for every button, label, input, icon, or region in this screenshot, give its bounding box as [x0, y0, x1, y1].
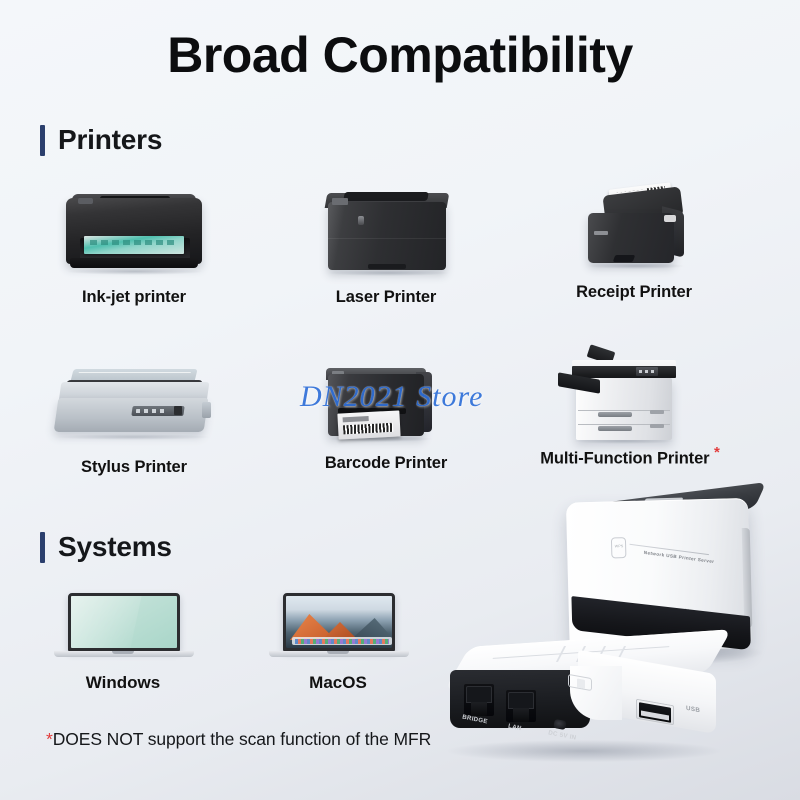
footnote-asterisk: * — [46, 729, 53, 749]
printer-card-inkjet[interactable]: Ink-jet printer — [14, 180, 254, 307]
section-header-label: Printers — [58, 124, 162, 156]
printer-card-receipt[interactable]: Receipt Printer — [514, 175, 754, 302]
system-card-label: Windows — [28, 673, 218, 693]
printer-card-label: Stylus Printer — [14, 458, 254, 477]
section-accent-bar — [40, 125, 45, 156]
printer-label-text: Barcode Printer — [325, 454, 447, 472]
section-accent-bar — [40, 532, 45, 563]
macos-laptop-icon — [243, 585, 433, 673]
printer-card-laser[interactable]: Laser Printer — [266, 180, 506, 307]
system-card-label: MacOS — [243, 673, 433, 693]
printer-card-label: Ink-jet printer — [14, 288, 254, 307]
printer-label-text: Ink-jet printer — [82, 288, 186, 306]
asterisk-marker: * — [714, 444, 720, 461]
inkjet-printer-icon — [14, 180, 254, 288]
section-header-systems: Systems — [40, 531, 172, 563]
printer-label-text: Stylus Printer — [81, 458, 187, 476]
footnote-text: DOES NOT support the scan function of th… — [53, 729, 431, 749]
printer-card-label: Laser Printer — [266, 288, 506, 307]
multifunction-printer-icon — [510, 336, 750, 444]
dc-power-jack[interactable] — [553, 719, 566, 730]
section-header-label: Systems — [58, 531, 172, 563]
printer-label-text: Receipt Printer — [576, 283, 692, 301]
store-watermark: DN2021 Store — [300, 380, 483, 414]
receipt-printer-icon — [514, 175, 754, 283]
device-shadow — [448, 740, 720, 762]
bridge-port[interactable] — [464, 684, 494, 716]
printer-card-label: Receipt Printer — [514, 283, 754, 302]
laser-printer-icon — [266, 180, 506, 288]
printer-card-stylus[interactable]: Stylus Printer — [14, 350, 254, 477]
lan-port[interactable] — [506, 690, 536, 722]
printer-card-label: Multi-Function Printer * — [510, 444, 750, 469]
wps-button-label: WPS — [612, 544, 626, 548]
footnote: *DOES NOT support the scan function of t… — [46, 729, 431, 750]
printer-card-label: Barcode Printer — [266, 454, 506, 473]
system-card-macos[interactable]: MacOS — [243, 585, 433, 693]
printer-card-multifunction[interactable]: Multi-Function Printer * — [510, 336, 750, 469]
device-side-edge — [742, 528, 753, 628]
system-card-windows[interactable]: Windows — [28, 585, 218, 693]
port-label-lan: LAN — [507, 723, 522, 732]
page-title: Broad Compatibility — [0, 26, 800, 84]
stylus-printer-icon — [14, 350, 254, 458]
windows-laptop-icon — [28, 585, 218, 673]
printer-label-text: Multi-Function Printer — [540, 450, 709, 468]
print-server-flat: BRIDGE LAN DC 5V IN USB — [440, 636, 730, 766]
printer-label-text: Laser Printer — [336, 288, 437, 306]
section-header-printers: Printers — [40, 124, 162, 156]
